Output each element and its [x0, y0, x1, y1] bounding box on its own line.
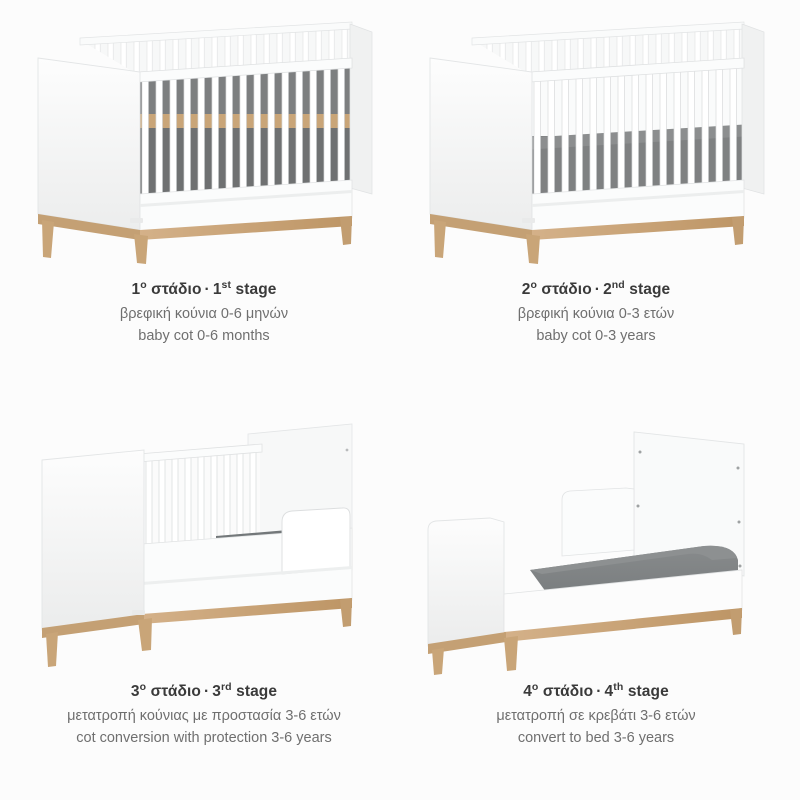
- stage-ordinal-greek: ο: [532, 681, 539, 693]
- stage-ordinal-english: st: [222, 279, 232, 291]
- leg-front-left: [42, 220, 54, 258]
- stage-word-english: stage: [236, 281, 277, 298]
- stage-ordinal-english: nd: [612, 279, 625, 291]
- stage-number-english: 3: [212, 683, 221, 700]
- stage-desc-greek-3: μετατροπή κούνιας με προστασία 3-6 ετών: [67, 706, 341, 728]
- left-end-panel: [430, 58, 532, 230]
- brand-logo-badge: [132, 610, 145, 615]
- stage-title-2: 2ο στάδιο·2nd stage: [518, 278, 675, 301]
- left-end-panel: [38, 58, 140, 230]
- screw-dot: [346, 449, 349, 452]
- crib-illustration-stage-1: [20, 18, 388, 268]
- title-separator: ·: [202, 281, 213, 298]
- stage-ordinal-greek: ο: [530, 279, 537, 291]
- stage-desc-greek-2: βρεφική κούνια 0-3 ετών: [518, 304, 675, 326]
- stage-number-greek: 3: [131, 683, 140, 700]
- stage-number-english: 4: [605, 683, 614, 700]
- brand-logo-badge: [130, 218, 143, 223]
- stage-word-english: stage: [628, 683, 669, 700]
- title-separator: ·: [592, 281, 603, 298]
- leg-front-right: [504, 636, 518, 671]
- stage-desc-greek-1: βρεφική κούνια 0-6 μηνών: [120, 304, 288, 326]
- leg-front-left: [46, 632, 58, 667]
- stage-ordinal-english: rd: [221, 681, 232, 693]
- screw-dot: [738, 521, 741, 524]
- screw-dot: [737, 467, 740, 470]
- leg-back-right: [732, 216, 744, 245]
- product-stages-page: 1ο στάδιο·1st stage βρεφική κούνια 0-6 μ…: [0, 0, 800, 800]
- leg-front-right: [526, 234, 540, 264]
- stage-desc-english-1: baby cot 0-6 months: [120, 326, 288, 348]
- stage-word-english: stage: [236, 683, 277, 700]
- protection-guard-panel: [282, 508, 350, 574]
- back-side-panel: [562, 488, 634, 556]
- stage-card-3: 3ο στάδιο·3rd stage μετατροπή κούνιας με…: [8, 408, 400, 788]
- stage-desc-english-3: cot conversion with protection 3-6 years: [67, 728, 341, 750]
- stage-word-greek: στάδιο: [541, 281, 591, 298]
- stages-grid: 1ο στάδιο·1st stage βρεφική κούνια 0-6 μ…: [0, 0, 800, 800]
- title-separator: ·: [593, 683, 604, 700]
- screw-dot: [637, 505, 640, 508]
- stage-number-english: 2: [603, 281, 612, 298]
- stage-card-1: 1ο στάδιο·1st stage βρεφική κούνια 0-6 μ…: [8, 18, 400, 408]
- screw-dot: [639, 451, 642, 454]
- stage-ordinal-greek: ο: [140, 681, 147, 693]
- leg-front-left: [432, 648, 444, 675]
- stage-title-4: 4ο στάδιο·4th stage: [496, 680, 695, 703]
- right-end-panel: [350, 24, 372, 194]
- crib-illustration-stage-3: [20, 416, 388, 678]
- front-rail-slats: [534, 60, 736, 200]
- leg-front-right: [134, 234, 148, 264]
- leg-front-right: [138, 618, 152, 651]
- stage-caption-3: 3ο στάδιο·3rd stage μετατροπή κούνιας με…: [67, 680, 341, 750]
- title-separator: ·: [201, 683, 212, 700]
- bed-illustration-stage-4: [412, 416, 780, 678]
- stage-number-english: 1: [213, 281, 222, 298]
- stage-number-greek: 1: [131, 281, 140, 298]
- stage-title-1: 1ο στάδιο·1st stage: [120, 278, 288, 301]
- crib-illustration-stage-2: [412, 18, 780, 268]
- stage-ordinal-english: th: [613, 681, 623, 693]
- stage-title-3: 3ο στάδιο·3rd stage: [67, 680, 341, 703]
- leg-back-right: [730, 608, 742, 635]
- stage-desc-greek-4: μετατροπή σε κρεβάτι 3-6 ετών: [496, 706, 695, 728]
- stage-ordinal-greek: ο: [140, 279, 147, 291]
- stage-desc-english-2: baby cot 0-3 years: [518, 326, 675, 348]
- stage-caption-2: 2ο στάδιο·2nd stage βρεφική κούνια 0-3 ε…: [518, 278, 675, 348]
- right-end-panel: [742, 24, 764, 194]
- stage-word-greek: στάδιο: [151, 281, 201, 298]
- leg-front-left: [434, 220, 446, 258]
- stage-caption-4: 4ο στάδιο·4th stage μετατροπή σε κρεβάτι…: [496, 680, 695, 750]
- stage-card-4: 4ο στάδιο·4th stage μετατροπή σε κρεβάτι…: [400, 408, 792, 788]
- stage-caption-1: 1ο στάδιο·1st stage βρεφική κούνια 0-6 μ…: [120, 278, 288, 348]
- brand-logo-badge: [522, 218, 535, 223]
- leg-back-right: [340, 216, 352, 245]
- front-rail-slats: [142, 60, 344, 200]
- left-end-panel: [42, 450, 144, 630]
- screw-dot: [739, 565, 742, 568]
- stage-word-greek: στάδιο: [543, 683, 593, 700]
- stage-number-greek: 4: [523, 683, 532, 700]
- stage-card-2: 2ο στάδιο·2nd stage βρεφική κούνια 0-3 ε…: [400, 18, 792, 408]
- leg-back-right: [340, 598, 352, 627]
- stage-word-greek: στάδιο: [151, 683, 201, 700]
- stage-word-english: stage: [629, 281, 670, 298]
- footboard-panel: [428, 518, 504, 646]
- stage-desc-english-4: convert to bed 3-6 years: [496, 728, 695, 750]
